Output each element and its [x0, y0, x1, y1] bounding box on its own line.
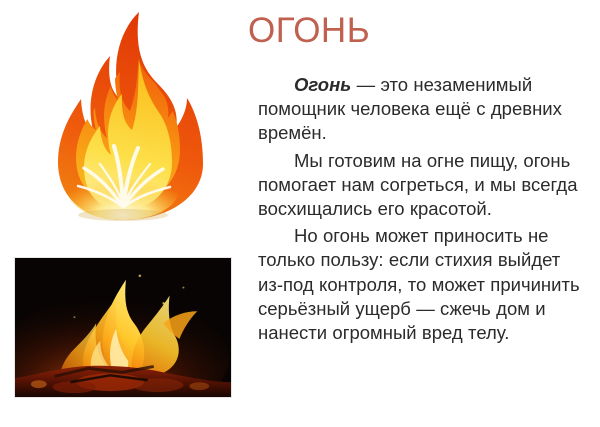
flame-clipart — [40, 6, 205, 226]
lead-word: Огонь — [294, 74, 351, 95]
bonfire-photo — [14, 257, 232, 398]
paragraph-3: Но огонь может приносить не только польз… — [258, 224, 590, 345]
body-text: Огонь — это незаменимый помощник человек… — [246, 73, 590, 345]
text-column: ОГОНЬ Огонь — это незаменимый помощник ч… — [246, 10, 590, 345]
paragraph-1: Огонь — это незаменимый помощник человек… — [258, 73, 590, 146]
paragraph-2: Мы готовим на огне пищу, огонь помогает … — [258, 149, 590, 222]
slide-canvas: ОГОНЬ Огонь — это незаменимый помощник ч… — [0, 0, 600, 427]
page-title: ОГОНЬ — [246, 10, 590, 52]
flame-shadow — [78, 209, 168, 221]
